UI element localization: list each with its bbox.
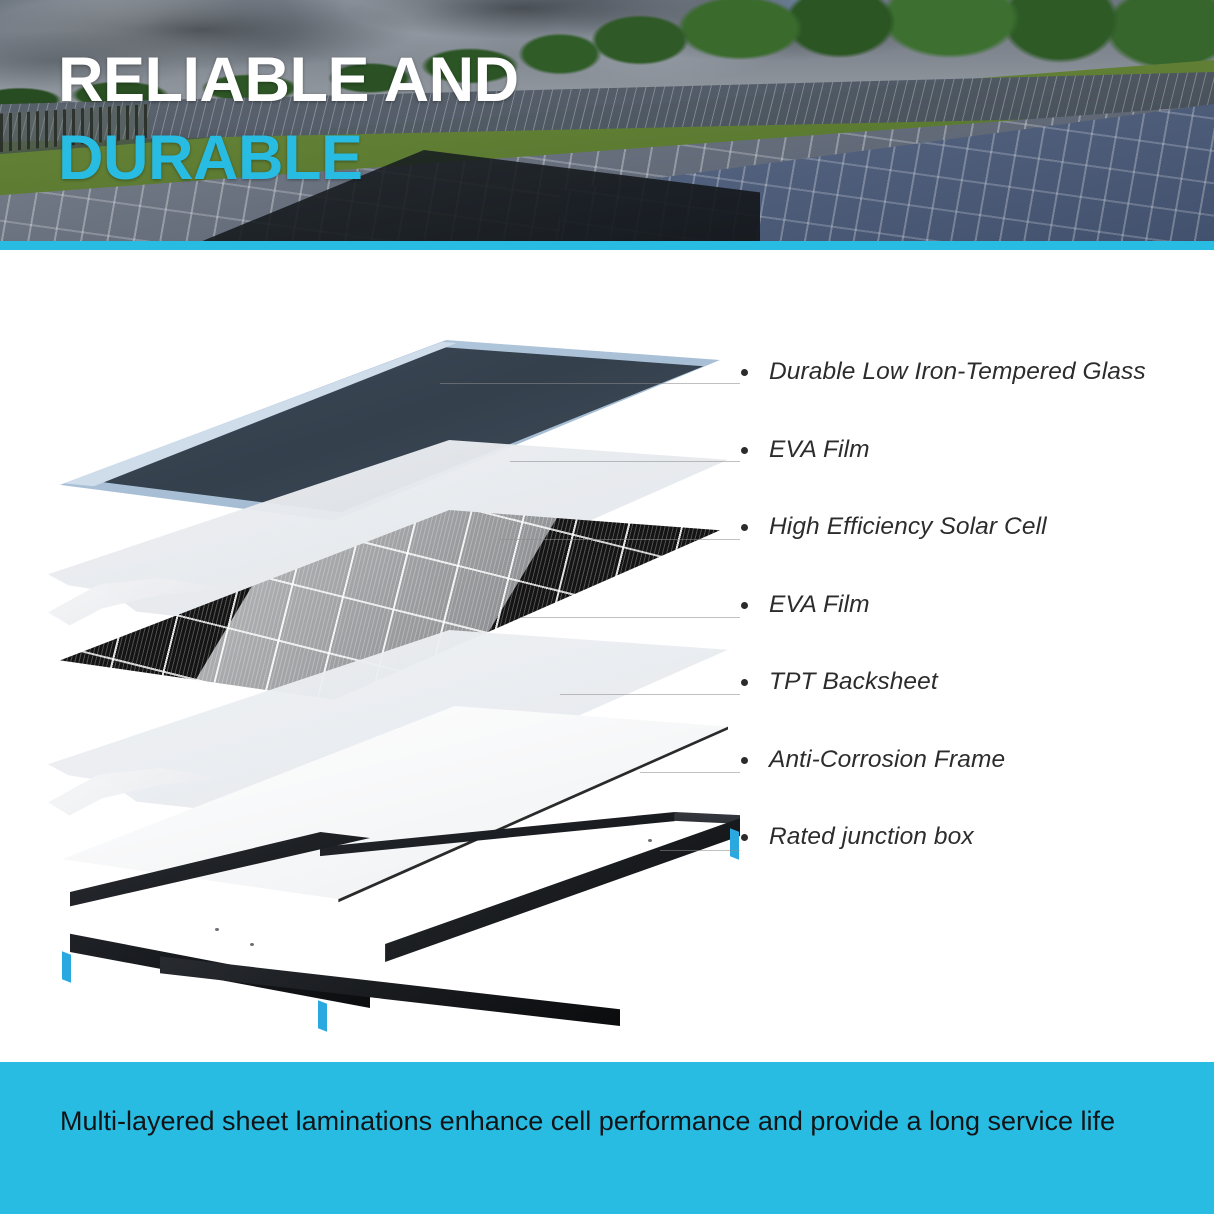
frame-corner-cap-front <box>318 1000 327 1031</box>
footer-banner: Multi-layered sheet laminations enhance … <box>0 1062 1214 1214</box>
frame-mounting-hole <box>648 839 652 842</box>
feature-label: EVA Film <box>769 591 870 619</box>
leader-line-frame <box>640 772 740 773</box>
feature-eva-lower: EVA Film <box>741 591 1211 669</box>
leader-line-junction-box <box>660 850 740 851</box>
feature-solar-cell: High Efficiency Solar Cell <box>741 513 1211 591</box>
hero-title-line2: DURABLE <box>58 128 519 189</box>
feature-label: High Efficiency Solar Cell <box>769 513 1047 541</box>
bullet-icon <box>741 757 748 764</box>
feature-frame: Anti-Corrosion Frame <box>741 746 1211 824</box>
leader-line-eva-upper <box>510 461 740 462</box>
frame-corner-cap-far <box>730 828 739 859</box>
accent-divider <box>0 241 1214 250</box>
feature-glass: Durable Low Iron-Tempered Glass <box>741 358 1211 436</box>
frame-corner-cap-left <box>62 951 71 982</box>
frame-mounting-hole <box>215 928 219 931</box>
leader-line-glass <box>440 383 740 384</box>
leader-line-eva-lower <box>520 617 740 618</box>
feature-label: EVA Film <box>769 436 870 464</box>
hero-title: RELIABLE AND DURABLE <box>58 50 519 189</box>
leader-line-solar-cell <box>500 539 740 540</box>
exploded-layer-stack <box>40 340 740 1020</box>
feature-label: TPT Backsheet <box>769 668 938 696</box>
bullet-icon <box>741 447 748 454</box>
hero-title-line1: RELIABLE AND <box>58 50 519 111</box>
leader-line-backsheet <box>560 694 740 695</box>
feature-junction-box: Rated junction box <box>741 823 1211 901</box>
feature-label: Rated junction box <box>769 823 974 851</box>
feature-eva-upper: EVA Film <box>741 436 1211 514</box>
frame-mounting-hole <box>250 943 254 946</box>
bullet-icon <box>741 369 748 376</box>
feature-label: Durable Low Iron-Tempered Glass <box>769 358 1146 386</box>
hero-banner: RELIABLE AND DURABLE <box>0 0 1214 241</box>
aluminium-frame <box>40 810 740 1020</box>
frame-rail-front <box>160 906 620 1026</box>
bullet-icon <box>741 679 748 686</box>
bullet-icon <box>741 834 748 841</box>
footer-caption: Multi-layered sheet laminations enhance … <box>60 1102 1140 1141</box>
bullet-icon <box>741 602 748 609</box>
feature-list: Durable Low Iron-Tempered Glass EVA Film… <box>741 358 1211 901</box>
feature-label: Anti-Corrosion Frame <box>769 746 1005 774</box>
feature-backsheet: TPT Backsheet <box>741 668 1211 746</box>
bullet-icon <box>741 524 748 531</box>
